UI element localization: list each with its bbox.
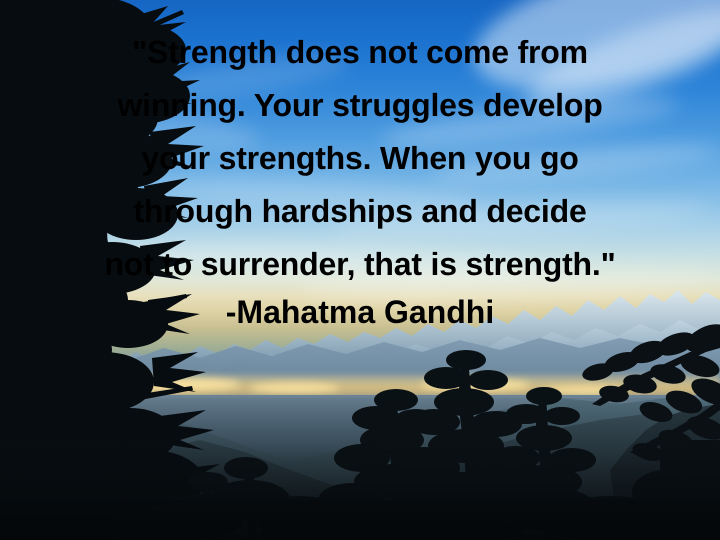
quote-attribution: -Mahatma Gandhi xyxy=(0,291,720,333)
attribution-block: -Mahatma Gandhi xyxy=(0,291,720,333)
quote-line-5: not to surrender, that is strength." xyxy=(0,238,720,291)
quote-line-4: through hardships and decide xyxy=(0,185,720,238)
quote-text-block: "Strength does not come from winning. Yo… xyxy=(0,26,720,291)
quote-line-3: your strengths. When you go xyxy=(0,132,720,185)
golden-cloud-puff xyxy=(250,383,340,393)
quote-line-1: "Strength does not come from xyxy=(0,26,720,79)
golden-cloud-puff xyxy=(545,386,625,395)
golden-cloud-puff xyxy=(30,384,100,394)
golden-cloud-puff xyxy=(120,378,240,391)
quote-poster: "Strength does not come from winning. Yo… xyxy=(0,0,720,540)
hazy-valley xyxy=(0,395,720,540)
quote-line-2: winning. Your struggles develop xyxy=(0,79,720,132)
golden-cloud-puff xyxy=(420,379,530,391)
